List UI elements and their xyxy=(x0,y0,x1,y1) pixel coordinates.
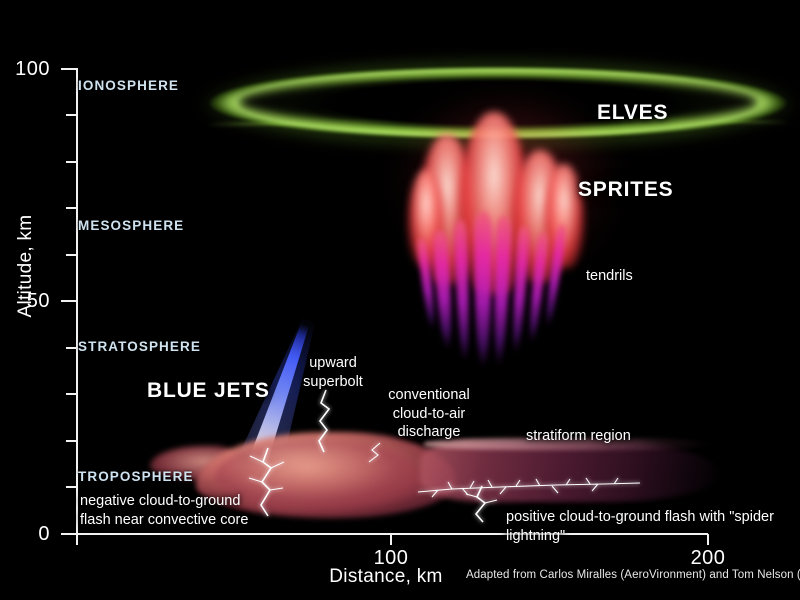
credit-text: Adapted from Carlos Miralles (AeroVironm… xyxy=(466,569,800,581)
sprites-label: SPRITES xyxy=(578,178,673,202)
annotation-positive-cg: positive cloud-to-ground flash with "spi… xyxy=(506,508,800,545)
y-tick-10 xyxy=(66,486,77,488)
sprite-group xyxy=(414,112,604,374)
y-tick-label-100: 100 xyxy=(0,58,50,81)
x-axis-title: Distance, km xyxy=(296,566,476,588)
y-tick-40 xyxy=(66,347,77,349)
diagram-canvas: 100 50 0 100 200 Altitude, km Distance, … xyxy=(0,0,800,600)
x-tick-0 xyxy=(76,534,78,545)
layer-label-troposphere: TROPOSPHERE xyxy=(78,469,194,484)
x-tick-label-200: 200 xyxy=(668,547,748,570)
layer-label-stratosphere: STRATOSPHERE xyxy=(78,339,201,354)
blue-jets-label: BLUE JETS xyxy=(147,379,270,403)
y-tick-50 xyxy=(61,300,77,302)
y-tick-80 xyxy=(66,161,77,163)
layer-label-mesosphere: MESOSPHERE xyxy=(78,218,184,233)
stratiform-cloud xyxy=(420,442,720,502)
y-tick-label-0: 0 xyxy=(0,523,50,546)
x-tick-100 xyxy=(390,534,392,545)
y-tick-30 xyxy=(66,393,77,395)
y-tick-0 xyxy=(61,533,77,535)
annotation-cloud-to-air: conventional cloud-to-air discharge xyxy=(376,386,482,442)
annotation-negative-cg: negative cloud-to-ground flash near conv… xyxy=(80,492,248,529)
y-tick-20 xyxy=(66,440,77,442)
y-tick-100 xyxy=(61,68,77,70)
annotation-upward-superbolt: upward superbolt xyxy=(288,354,378,391)
sprite-tendril xyxy=(474,212,492,368)
layer-label-ionosphere: IONOSPHERE xyxy=(78,78,179,93)
annotation-stratiform: stratiform region xyxy=(526,427,631,446)
y-tick-60 xyxy=(66,254,77,256)
elves-label: ELVES xyxy=(597,101,668,125)
y-axis-title: Altitude, km xyxy=(15,196,37,336)
y-tick-70 xyxy=(66,207,77,209)
tendrils-label: tendrils xyxy=(586,267,633,286)
y-tick-90 xyxy=(66,114,77,116)
